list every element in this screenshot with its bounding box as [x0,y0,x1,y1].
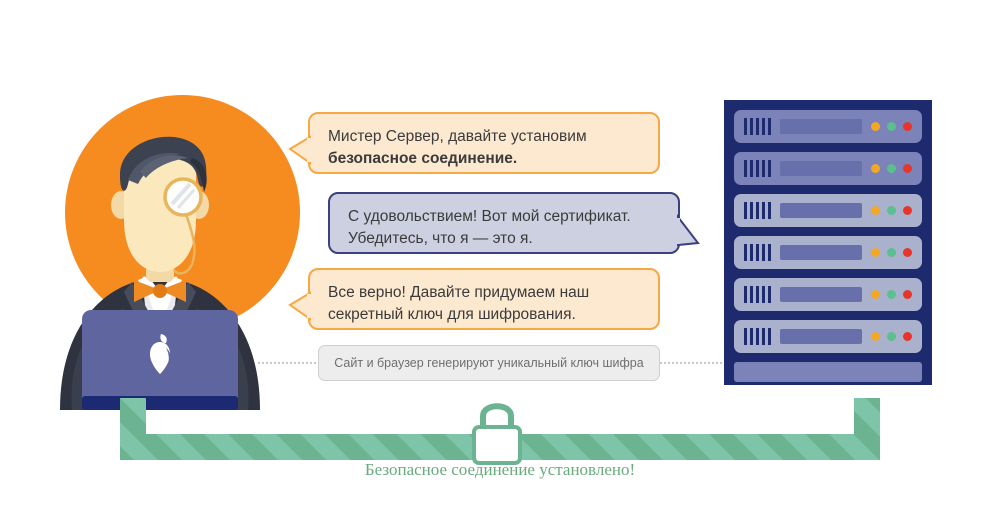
speech-bubble-client-2: Все верно! Давайте придумаем наш секретн… [308,268,660,330]
slot-vents-icon [744,118,771,135]
dotted-connector-left [258,362,320,364]
slot-leds [871,332,912,341]
slot-leds [871,290,912,299]
monocle-lens [165,179,201,215]
dotted-connector-right [660,362,726,364]
server-slot [734,320,922,353]
key-generation-note-text: Сайт и браузер генерируют уникальный клю… [334,356,643,370]
slot-panel [780,287,862,302]
illustration-canvas: Мистер Сервер, давайте установим безопас… [0,0,1000,523]
slot-vents-icon [744,328,771,345]
bubble3-line2: секретный ключ для шифрования. [328,304,640,326]
server-slot [734,110,922,143]
slot-panel [780,245,862,260]
key-generation-note: Сайт и браузер генерируют уникальный клю… [318,345,660,381]
bubble1-tail-left [288,136,312,166]
speech-bubble-server-1: С удовольствием! Вот мой сертификат. Убе… [328,192,680,254]
slot-vents-icon [744,286,771,303]
server-slot [734,194,922,227]
client-character [20,80,300,410]
slot-vents-icon [744,160,771,177]
slot-panel [780,329,862,344]
padlock-body [474,427,520,463]
server-slot [734,236,922,269]
slot-panel [780,203,862,218]
bubble2-line1: С удовольствием! Вот мой сертификат. [348,206,660,228]
slot-panel [780,161,862,176]
bubble2-tail-right [676,216,700,248]
bubble1-line2: безопасное соединение. [328,148,640,170]
slot-vents-icon [744,202,771,219]
padlock-icon [463,394,531,466]
caption-text: Безопасное соединение установлено! [0,460,1000,480]
bubble3-line1: Все верно! Давайте придумаем наш [328,282,640,304]
slot-vents-icon [744,244,771,261]
gentleman-figure [20,80,300,410]
bowtie-knot [153,284,167,298]
server-rack [724,100,932,385]
rack-bottom-bar [734,362,922,382]
bubble2-line2: Убедитесь, что я — это я. [348,228,660,250]
slot-leds [871,206,912,215]
slot-leds [871,122,912,131]
bubble1-line1: Мистер Сервер, давайте установим [328,126,640,148]
speech-bubble-client-1: Мистер Сервер, давайте установим безопас… [308,112,660,174]
slot-leds [871,248,912,257]
server-slot [734,152,922,185]
bubble3-tail-left [288,292,312,322]
slot-leds [871,164,912,173]
server-slot [734,278,922,311]
slot-panel [780,119,862,134]
